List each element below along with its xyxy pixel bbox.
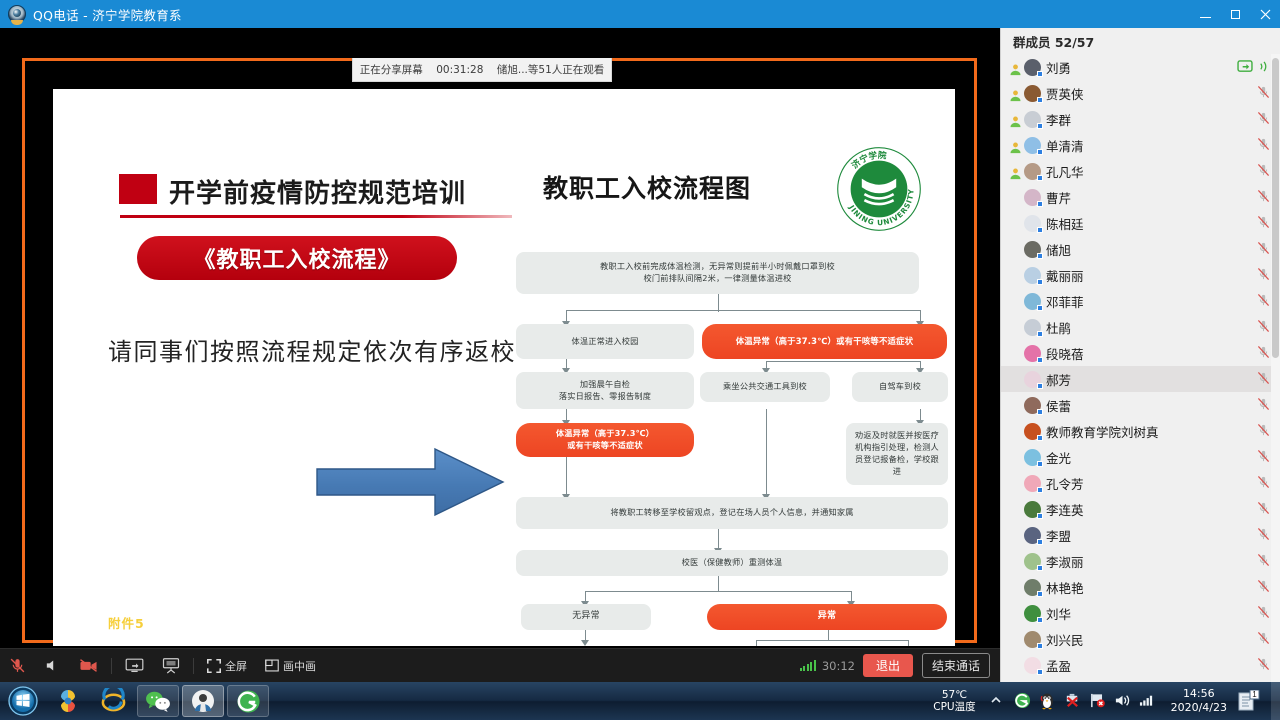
member-admin-badge-icon [1009, 451, 1022, 464]
member-row[interactable]: 李淑丽 [1001, 548, 1280, 574]
member-status-icons [1257, 630, 1270, 649]
taskbar-app-qq[interactable] [47, 685, 89, 717]
speaker-button[interactable] [35, 649, 70, 683]
wechat-icon [145, 690, 171, 712]
member-row[interactable]: 陈相廷 [1001, 210, 1280, 236]
member-status-icons [1257, 370, 1270, 389]
member-name: 郝芳 [1046, 370, 1071, 389]
member-muted-icon [1257, 474, 1270, 493]
screen-share-status-bar: 正在分享屏幕 00:31:28 储旭...等51人正在观看 [352, 58, 612, 82]
member-avatar [1024, 605, 1041, 622]
flowchart-panel: 教职工入校流程图 济宁学院 JINING UNIVERSIT [508, 89, 955, 646]
member-row[interactable]: 储旭 [1001, 236, 1280, 262]
svg-text:1: 1 [1252, 690, 1257, 699]
flow-node-n4: 加强晨午自检落实日报告、零报告制度 [516, 372, 694, 409]
flow-node-n5: 乘坐公共交通工具到校 [700, 372, 830, 402]
share-status-label: 正在分享屏幕 [360, 62, 423, 77]
flow-node-n11: 无异常 [521, 604, 651, 630]
window-controls [1190, 0, 1280, 28]
member-avatar [1024, 215, 1041, 232]
member-name: 李淑丽 [1046, 552, 1084, 571]
member-avatar [1024, 189, 1041, 206]
member-status-icons [1257, 448, 1270, 467]
member-admin-badge-icon [1009, 217, 1022, 230]
antivirus-icon[interactable] [1064, 692, 1083, 711]
member-status-icons [1257, 136, 1270, 155]
notification-center-icon[interactable]: 1 [1238, 690, 1260, 712]
member-admin-badge-icon [1009, 243, 1022, 256]
member-speaking-icon [1258, 58, 1270, 77]
member-status-icons [1257, 604, 1270, 623]
share-status-viewers: 储旭...等51人正在观看 [497, 62, 604, 77]
member-name: 孔凡华 [1046, 162, 1084, 181]
member-status-icons [1257, 292, 1270, 311]
connector [718, 576, 719, 592]
member-row[interactable]: 刘华 [1001, 600, 1280, 626]
member-muted-icon [1257, 162, 1270, 181]
member-admin-badge-icon [1009, 321, 1022, 334]
member-list[interactable]: 刘勇贾英侠李群单清清孔凡华曹芹陈相廷储旭戴丽丽邓菲菲杜鹃段晓蓓郝芳侯蕾教师教育学… [1001, 54, 1280, 682]
share-status-duration: 00:31:28 [436, 64, 483, 76]
member-status-icons [1257, 526, 1270, 545]
restore-button[interactable] [1220, 0, 1250, 28]
360-browser-icon [236, 689, 261, 714]
member-admin-badge-icon [1009, 165, 1022, 178]
member-row[interactable]: 李盟 [1001, 522, 1280, 548]
taskbar-app-360-browser[interactable] [227, 685, 269, 717]
picture-in-picture-icon [265, 659, 279, 672]
member-avatar [1024, 475, 1041, 492]
member-avatar [1024, 449, 1041, 466]
member-muted-icon [1257, 344, 1270, 363]
member-row[interactable]: 贾英侠 [1001, 80, 1280, 106]
member-status-icons [1257, 396, 1270, 415]
member-name: 教师教育学院刘树真 [1046, 422, 1159, 441]
cpu-temp-label: CPU温度 [933, 701, 975, 713]
member-row[interactable]: 邓菲菲 [1001, 288, 1280, 314]
member-avatar [1024, 579, 1041, 596]
member-status-icons [1257, 344, 1270, 363]
cpu-temp-value: 57℃ [933, 689, 975, 701]
member-muted-icon [1257, 604, 1270, 623]
windows-taskbar: 57℃ CPU温度 [0, 682, 1280, 720]
volume-icon[interactable] [1114, 692, 1133, 711]
clock-time: 14:56 [1171, 687, 1227, 701]
member-admin-badge-icon [1009, 659, 1022, 672]
connector [766, 409, 767, 497]
member-name: 孟盈 [1046, 656, 1071, 675]
clock-date: 2020/4/23 [1171, 701, 1227, 715]
presentation-slide: 开学前疫情防控规范培训 《教职工入校流程》 请同事们按照流程规定依次有序返校 [53, 89, 955, 646]
flow-node-n2: 体温正常进入校园 [516, 324, 694, 359]
member-name: 刘华 [1046, 604, 1071, 623]
slide-left-panel: 开学前疫情防控规范培训 《教职工入校流程》 请同事们按照流程规定依次有序返校 [53, 89, 508, 646]
member-row[interactable]: 李连英 [1001, 496, 1280, 522]
member-admin-badge-icon [1009, 373, 1022, 386]
member-avatar [1024, 631, 1041, 648]
member-row[interactable]: 段晓蓓 [1001, 340, 1280, 366]
member-admin-badge-icon [1009, 607, 1022, 620]
flow-node-n9: 将教职工转移至学校留观点，登记在场人员个人信息，并通知家属 [516, 497, 948, 529]
member-avatar [1024, 423, 1041, 440]
member-status-icons [1257, 318, 1270, 337]
member-panel-header: 群成员 52/57 [1001, 28, 1280, 54]
member-muted-icon [1257, 500, 1270, 519]
connector [585, 591, 851, 592]
camera-muted-icon [79, 657, 98, 674]
member-row[interactable]: 孟盈 [1001, 652, 1280, 678]
member-name: 金光 [1046, 448, 1071, 467]
whiteboard-button[interactable] [153, 649, 189, 683]
member-muted-icon [1257, 630, 1270, 649]
fullscreen-button[interactable]: 全屏 [198, 649, 256, 683]
member-muted-icon [1257, 422, 1270, 441]
member-name: 储旭 [1046, 240, 1071, 259]
member-muted-icon [1257, 526, 1270, 545]
blue-arrow-graphic [315, 447, 505, 517]
window-title-bar: QQ电话 - 济宁学院教育系 [0, 0, 1280, 28]
member-name: 孔令芳 [1046, 474, 1084, 493]
member-muted-icon [1257, 396, 1270, 415]
screen-share-button[interactable] [116, 649, 153, 683]
member-muted-icon [1257, 656, 1270, 675]
speaker-icon [44, 657, 61, 674]
member-status-icons [1257, 266, 1270, 285]
member-muted-icon [1257, 136, 1270, 155]
flow-node-n7: 体温异常（高于37.3℃）或有干咳等不适症状 [516, 423, 694, 457]
taskbar-app-wechat[interactable] [137, 685, 179, 717]
member-screen-share-icon [1237, 58, 1253, 77]
connector [828, 630, 829, 640]
member-row[interactable]: 金光 [1001, 444, 1280, 470]
member-status-icons [1257, 656, 1270, 675]
slide-pill-title: 《教职工入校流程》 [193, 242, 400, 274]
member-name: 单清清 [1046, 136, 1084, 155]
connector [766, 361, 920, 362]
member-admin-badge-icon [1009, 581, 1022, 594]
show-desktop-button[interactable] [1271, 682, 1280, 720]
close-button[interactable] [1250, 0, 1280, 28]
member-name: 戴丽丽 [1046, 266, 1084, 285]
member-status-icons [1237, 58, 1270, 77]
slide-subtitle: 请同事们按照流程规定依次有序返校 [108, 332, 516, 367]
jining-university-logo: 济宁学院 JINING UNIVERSITY [836, 146, 922, 232]
member-row[interactable]: 侯蕾 [1001, 392, 1280, 418]
network-icon[interactable] [1139, 692, 1158, 711]
slide-header-title: 开学前疫情防控规范培训 [169, 173, 466, 210]
internet-explorer-icon [100, 688, 127, 715]
member-admin-badge-icon [1009, 477, 1022, 490]
red-square-decoration [119, 174, 157, 204]
member-muted-icon [1257, 84, 1270, 103]
member-name: 陈相廷 [1046, 214, 1084, 233]
member-status-icons [1257, 240, 1270, 259]
member-avatar [1024, 293, 1041, 310]
member-row[interactable]: 单清清 [1001, 132, 1280, 158]
member-name: 李盟 [1046, 526, 1071, 545]
connector [566, 310, 920, 311]
contact-icon [191, 689, 215, 713]
member-admin-badge-icon [1009, 113, 1022, 126]
fullscreen-label: 全屏 [225, 658, 247, 674]
member-avatar [1024, 85, 1041, 102]
scrollbar-thumb[interactable] [1272, 58, 1279, 358]
member-row[interactable]: 戴丽丽 [1001, 262, 1280, 288]
member-admin-badge-icon [1009, 555, 1022, 568]
signal-strength-icon [800, 660, 816, 671]
flow-node-n12: 异常 [707, 604, 947, 630]
member-row[interactable]: 孔凡华 [1001, 158, 1280, 184]
flag-icon[interactable] [1089, 692, 1108, 711]
member-status-icons [1257, 422, 1270, 441]
cpu-temperature-indicator[interactable]: 57℃ CPU温度 [933, 689, 975, 714]
call-control-toolbar: 全屏 画中画 30:12 退出 结束通话 [0, 648, 1000, 682]
tray-browser-icon[interactable] [1014, 692, 1033, 711]
member-muted-icon [1257, 370, 1270, 389]
arrow-head [581, 640, 589, 646]
member-name: 李连英 [1046, 500, 1084, 519]
member-avatar [1024, 163, 1041, 180]
windows-start-orb[interactable] [2, 684, 44, 718]
flow-node-n10: 校医（保健教师）重测体温 [516, 550, 948, 576]
member-row[interactable]: 曹芹 [1001, 184, 1280, 210]
member-status-icons [1257, 578, 1270, 597]
member-admin-badge-icon [1009, 191, 1022, 204]
flow-node-n6: 自驾车到校 [852, 372, 948, 402]
member-avatar [1024, 267, 1041, 284]
member-avatar [1024, 111, 1041, 128]
toolbar-divider [111, 658, 112, 674]
member-muted-icon [1257, 448, 1270, 467]
member-admin-badge-icon [1009, 269, 1022, 282]
member-name: 刘兴民 [1046, 630, 1084, 649]
member-name: 林艳艳 [1046, 578, 1084, 597]
member-admin-badge-icon [1009, 399, 1022, 412]
member-admin-badge-icon [1009, 139, 1022, 152]
member-status-icons [1257, 500, 1270, 519]
microphone-mute-button[interactable] [0, 649, 35, 683]
member-avatar [1024, 657, 1041, 674]
member-row[interactable]: 刘勇 [1001, 54, 1280, 80]
member-muted-icon [1257, 318, 1270, 337]
member-name: 李群 [1046, 110, 1071, 129]
member-panel: 群成员 52/57 刘勇贾英侠李群单清清孔凡华曹芹陈相廷储旭戴丽丽邓菲菲杜鹃段晓… [1000, 28, 1280, 682]
connector [756, 640, 908, 641]
connector [908, 640, 909, 646]
minimize-button[interactable] [1190, 0, 1220, 28]
member-admin-badge-icon [1009, 425, 1022, 438]
title-divider [120, 215, 512, 218]
member-status-icons [1257, 188, 1270, 207]
microphone-muted-icon [9, 657, 26, 674]
flow-node-n1: 教职工入校前完成体温检测，无异常则提前半小时佩戴口罩到校校门前排队间隔2米，一律… [516, 252, 919, 294]
member-avatar [1024, 553, 1041, 570]
pip-label: 画中画 [283, 658, 316, 674]
member-name: 侯蕾 [1046, 396, 1071, 415]
connector [756, 640, 757, 646]
member-status-icons [1257, 110, 1270, 129]
member-muted-icon [1257, 578, 1270, 597]
member-avatar [1024, 527, 1041, 544]
member-admin-badge-icon [1009, 503, 1022, 516]
hangup-button[interactable]: 结束通话 [922, 653, 990, 678]
camera-mute-button[interactable] [70, 649, 107, 683]
member-row[interactable]: 林艳艳 [1001, 574, 1280, 600]
connector [566, 457, 567, 497]
member-muted-icon [1257, 188, 1270, 207]
member-name: 杜鹃 [1046, 318, 1071, 337]
shared-screen-frame: 开学前疫情防控规范培训 《教职工入校流程》 请同事们按照流程规定依次有序返校 [22, 58, 977, 643]
show-hidden-icons-arrow[interactable] [989, 692, 1008, 711]
member-admin-badge-icon [1009, 61, 1022, 74]
member-admin-badge-icon [1009, 347, 1022, 360]
taskbar-app-internet-explorer[interactable] [92, 685, 134, 717]
member-row[interactable]: 刘兴民 [1001, 626, 1280, 652]
member-avatar [1024, 137, 1041, 154]
video-stage: 开学前疫情防控规范培训 《教职工入校流程》 请同事们按照流程规定依次有序返校 [0, 28, 1000, 648]
member-admin-badge-icon [1009, 87, 1022, 100]
exit-button[interactable]: 退出 [863, 654, 913, 677]
member-status-icons [1257, 552, 1270, 571]
call-timer: 30:12 [822, 659, 855, 673]
member-name: 刘勇 [1046, 58, 1071, 77]
qq-video-call-icon [8, 5, 26, 23]
member-muted-icon [1257, 292, 1270, 311]
member-avatar [1024, 241, 1041, 258]
flow-node-n3: 体温异常（高于37.3℃）或有干咳等不适症状 [702, 324, 947, 359]
member-status-icons [1257, 162, 1270, 181]
member-avatar [1024, 345, 1041, 362]
member-name: 邓菲菲 [1046, 292, 1084, 311]
screen-share-icon [125, 657, 144, 674]
attachment-label: 附件5 [108, 613, 145, 632]
qq-icon [55, 688, 81, 714]
member-muted-icon [1257, 552, 1270, 571]
flow-node-n8: 劝返及时就医并按医疗机构指引处理，检测人员登记报备检，学校跟进 [846, 423, 948, 485]
member-avatar [1024, 501, 1041, 518]
member-muted-icon [1257, 110, 1270, 129]
member-list-scrollbar[interactable] [1271, 54, 1280, 682]
member-avatar [1024, 59, 1041, 76]
member-name: 曹芹 [1046, 188, 1071, 207]
flowchart-title: 教职工入校流程图 [543, 169, 751, 205]
member-avatar [1024, 371, 1041, 388]
fullscreen-icon [207, 659, 221, 673]
slide-pill-banner: 《教职工入校流程》 [137, 236, 457, 280]
system-tray: 57℃ CPU温度 [933, 682, 1267, 720]
member-row[interactable]: 孔令芳 [1001, 470, 1280, 496]
taskbar-clock[interactable]: 14:56 2020/4/23 [1171, 687, 1227, 716]
member-status-icons [1257, 214, 1270, 233]
picture-in-picture-button[interactable]: 画中画 [256, 649, 325, 683]
member-admin-badge-icon [1009, 633, 1022, 646]
member-avatar [1024, 319, 1041, 336]
member-name: 贾英侠 [1046, 84, 1084, 103]
taskbar-app-contact[interactable] [182, 685, 224, 717]
member-muted-icon [1257, 214, 1270, 233]
member-status-icons [1257, 474, 1270, 493]
member-row[interactable]: 教师教育学院刘树真 [1001, 418, 1280, 444]
whiteboard-icon [162, 657, 180, 674]
member-row[interactable]: 杜鹃 [1001, 314, 1280, 340]
shared-screen-content: 开学前疫情防控规范培训 《教职工入校流程》 请同事们按照流程规定依次有序返校 [53, 89, 955, 646]
qq-penguin-icon[interactable] [1039, 692, 1058, 711]
toolbar-divider [193, 658, 194, 674]
member-row[interactable]: 郝芳 [1001, 366, 1280, 392]
member-muted-icon [1257, 266, 1270, 285]
member-row[interactable]: 李群 [1001, 106, 1280, 132]
member-admin-badge-icon [1009, 529, 1022, 542]
member-avatar [1024, 397, 1041, 414]
member-muted-icon [1257, 240, 1270, 259]
window-title: QQ电话 - 济宁学院教育系 [33, 5, 182, 24]
member-name: 段晓蓓 [1046, 344, 1084, 363]
member-admin-badge-icon [1009, 295, 1022, 308]
member-status-icons [1257, 84, 1270, 103]
